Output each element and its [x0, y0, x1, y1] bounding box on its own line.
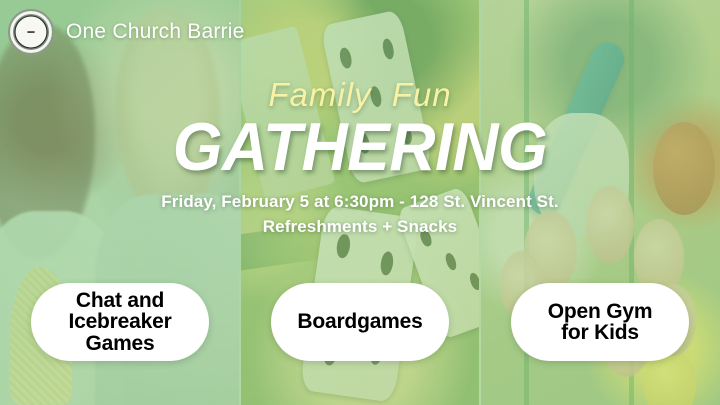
hero-text-block: Family Fun GATHERING Friday, February 5 …	[0, 78, 720, 237]
activity-pill-cell-1: Chat and Icebreaker Games	[0, 283, 240, 361]
activity-pill-cell-2: Boardgames	[240, 283, 480, 361]
oc-monogram-circle-logo-icon	[8, 9, 54, 55]
event-datetime-location: Friday, February 5 at 6:30pm - 128 St. V…	[0, 192, 720, 212]
activity-pill-row: Chat and Icebreaker Games Boardgames Ope…	[0, 283, 720, 361]
event-poster: One Church Barrie Family Fun GATHERING F…	[0, 0, 720, 405]
activity-pill-chat-and-icebreaker-games[interactable]: Chat and Icebreaker Games	[31, 283, 209, 361]
hero-eyebrow: Family Fun	[0, 78, 720, 111]
activity-pill-boardgames[interactable]: Boardgames	[271, 283, 449, 361]
activity-pill-open-gym-for-kids[interactable]: Open Gym for Kids	[511, 283, 689, 361]
event-extras: Refreshments + Snacks	[0, 217, 720, 237]
brand-name: One Church Barrie	[66, 20, 244, 44]
activity-pill-cell-3: Open Gym for Kids	[480, 283, 720, 361]
event-details: Friday, February 5 at 6:30pm - 128 St. V…	[0, 192, 720, 237]
hero-title: GATHERING	[22, 115, 699, 180]
brand-header: One Church Barrie	[8, 9, 244, 55]
